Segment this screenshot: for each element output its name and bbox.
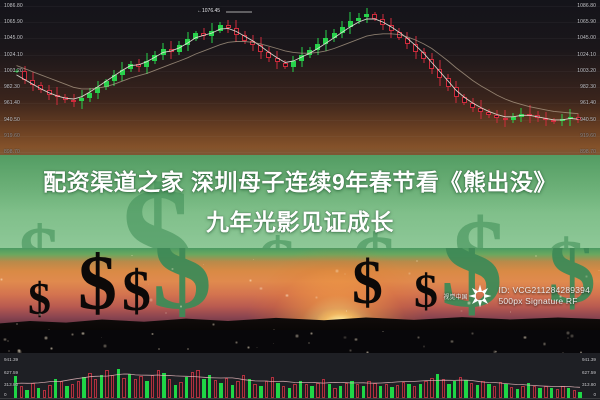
- bokeh-dot: [315, 296, 318, 299]
- volume-ma-line: [16, 374, 580, 387]
- price-tick-label: 1086.80: [577, 3, 596, 9]
- price-tick-label: 1086.80: [4, 3, 23, 9]
- dollar-sign-silhouette: $: [152, 248, 212, 328]
- bokeh-dot: [523, 336, 526, 339]
- photo-lower-dark-area: [0, 330, 600, 353]
- dollar-sign-silhouette: $: [78, 248, 117, 322]
- price-tick-label: 1024.10: [577, 52, 596, 58]
- bokeh-dot: [416, 260, 418, 262]
- bokeh-dot: [382, 331, 384, 333]
- bokeh-dot: [16, 323, 18, 325]
- bokeh-dot: [247, 346, 250, 349]
- watermark: 视觉中国 ID: VCG211284289394 500px Signature…: [467, 283, 590, 309]
- bokeh-dot: [103, 344, 107, 348]
- bokeh-dot: [8, 350, 10, 352]
- bokeh-dot: [417, 336, 420, 339]
- bokeh-dot: [285, 294, 289, 298]
- vcg-logo-icon: 视觉中国: [467, 283, 493, 309]
- price-tick-label: 961.40: [4, 100, 20, 106]
- bokeh-dot: [510, 311, 511, 312]
- bokeh-dot: [295, 334, 299, 338]
- price-tick-label: 1003.20: [577, 68, 596, 74]
- price-tick-label: 940.50: [580, 117, 596, 123]
- volume-tick-label: 313.80: [4, 382, 18, 387]
- bokeh-dot: [354, 338, 358, 342]
- bokeh-dot: [3, 338, 6, 341]
- headline: 配资渠道之家 深圳母子连续9年春节看《熊出没》 九年光影见证成长: [0, 162, 600, 242]
- price-tick-label: 919.60: [580, 133, 596, 139]
- volume-tick-label: 941.39: [582, 357, 596, 362]
- bokeh-dot: [151, 333, 154, 336]
- bokeh-dot: [256, 347, 257, 348]
- watermark-license: 500px Signature RF: [498, 296, 590, 307]
- bokeh-dot: [335, 269, 339, 273]
- bokeh-dot: [131, 255, 132, 256]
- bokeh-dot: [7, 340, 10, 343]
- volume-tick-label: 0: [4, 392, 7, 397]
- price-tick-label: 919.60: [4, 133, 20, 139]
- moving-average-lines: [0, 0, 600, 160]
- screenshot-canvas: 1086.801065.901045.001024.101003.20982.3…: [0, 0, 600, 400]
- price-tick-label: 1045.00: [577, 35, 596, 41]
- bokeh-dot: [50, 347, 53, 350]
- bokeh-dot: [343, 336, 346, 339]
- price-tick-label: 961.40: [580, 100, 596, 106]
- bokeh-dot: [308, 342, 310, 344]
- volume-baseline: [0, 398, 600, 399]
- price-tick-label: 1065.90: [577, 19, 596, 25]
- volume-tick-label: 941.39: [4, 357, 18, 362]
- bokeh-dot: [423, 345, 426, 348]
- headline-line-1: 配资渠道之家 深圳母子连续9年春节看《熊出没》: [0, 162, 600, 202]
- bokeh-dot: [0, 278, 3, 281]
- bokeh-dot: [81, 332, 85, 336]
- ma-line: [17, 19, 579, 120]
- price-annotation: ←1076.45: [197, 8, 220, 14]
- dollar-sign-silhouette: $: [414, 268, 438, 316]
- volume-tick-label: 627.59: [582, 370, 596, 375]
- bokeh-dot: [349, 349, 352, 352]
- bokeh-dot: [259, 287, 263, 291]
- price-tick-label: 1045.00: [4, 35, 23, 41]
- price-candlestick-chart: 1086.801065.901045.001024.101003.20982.3…: [0, 0, 600, 160]
- bokeh-dot: [235, 341, 238, 344]
- price-tick-label: 1065.90: [4, 19, 23, 25]
- headline-line-2: 九年光影见证成长: [0, 202, 600, 242]
- ma-line: [17, 34, 579, 114]
- price-tick-label: 982.30: [580, 84, 596, 90]
- dollar-sign-silhouette: $: [352, 252, 383, 314]
- volume-moving-average: [0, 353, 600, 400]
- bokeh-dot: [71, 333, 74, 336]
- bokeh-dot: [471, 332, 474, 335]
- price-tick-label: 1024.10: [4, 52, 23, 58]
- volume-tick-label: 0: [593, 392, 596, 397]
- price-tick-label: 982.30: [4, 84, 20, 90]
- bokeh-dot: [598, 270, 599, 271]
- bokeh-dot: [535, 255, 537, 257]
- bokeh-dot: [249, 279, 252, 282]
- volume-chart: 941.39627.59313.800 941.39627.59313.800: [0, 353, 600, 400]
- price-tick-label: 1003.20: [4, 68, 23, 74]
- bokeh-dot: [158, 348, 160, 350]
- bokeh-dot: [273, 343, 274, 344]
- volume-tick-label: 313.80: [582, 382, 596, 387]
- bokeh-dot: [450, 340, 453, 343]
- bokeh-dot: [253, 259, 254, 260]
- bokeh-dot: [310, 332, 313, 335]
- bokeh-dot: [44, 336, 49, 341]
- price-tick-label: 940.50: [4, 117, 20, 123]
- volume-tick-label: 627.59: [4, 370, 18, 375]
- watermark-id: ID: VCG211284289394: [498, 285, 590, 296]
- dollar-sign-silhouette: $: [122, 262, 151, 320]
- bokeh-dot: [101, 337, 102, 338]
- bokeh-dot: [567, 337, 569, 339]
- bokeh-dot: [38, 313, 41, 316]
- bokeh-dot: [570, 334, 574, 338]
- vcg-logo-label: 视觉中国: [443, 292, 467, 301]
- bokeh-dot: [408, 272, 411, 275]
- bokeh-dot: [543, 342, 547, 346]
- bokeh-dot: [187, 348, 189, 350]
- bokeh-dot: [344, 273, 346, 275]
